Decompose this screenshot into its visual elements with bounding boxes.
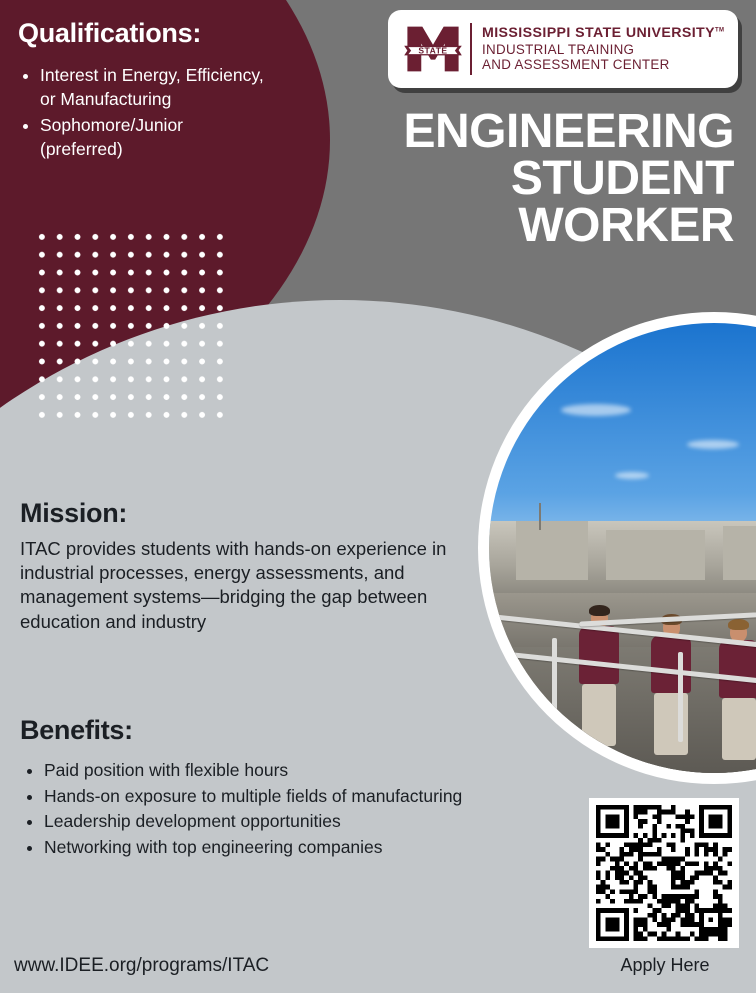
- svg-text:STATE: STATE: [418, 45, 447, 55]
- list-item: Paid position with flexible hours: [44, 758, 600, 784]
- list-item: Hands-on exposure to multiple fields of …: [44, 784, 600, 810]
- qr-code-caption: Apply Here: [575, 955, 755, 976]
- benefits-heading: Benefits:: [20, 715, 600, 746]
- qualifications-section: Qualifications: Interest in Energy, Effi…: [18, 18, 268, 164]
- list-item: Networking with top engineering companie…: [44, 835, 600, 861]
- msu-m-state-logo-icon: STATE: [400, 21, 466, 77]
- benefits-section: Benefits: Paid position with flexible ho…: [20, 715, 600, 860]
- list-item: Interest in Energy, Efficiency, or Manuf…: [40, 63, 268, 111]
- logo-center-line-2: AND ASSESSMENT CENTER: [482, 57, 724, 72]
- logo-divider: [470, 23, 472, 75]
- dot-grid-pattern: [33, 228, 229, 424]
- mission-body-text: ITAC provides students with hands-on exp…: [20, 537, 450, 634]
- headline-line-1: ENGINEERING: [304, 108, 734, 155]
- mission-section: Mission: ITAC provides students with han…: [20, 498, 450, 634]
- logo-university-name: MISSISSIPPI STATE UNIVERSITYTM: [482, 26, 724, 42]
- qr-code-card[interactable]: [589, 798, 739, 948]
- poster-canvas: STATE MISSISSIPPI STATE UNIVERSITYTM IND…: [0, 0, 756, 993]
- headline-line-3: WORKER: [304, 202, 734, 249]
- qualifications-list: Interest in Energy, Efficiency, or Manuf…: [18, 63, 268, 162]
- footer-url[interactable]: www.IDEE.org/programs/ITAC: [14, 955, 269, 977]
- logo-center-line-1: INDUSTRIAL TRAINING: [482, 42, 724, 57]
- benefits-list: Paid position with flexible hours Hands-…: [20, 758, 600, 860]
- headline-title: ENGINEERING STUDENT WORKER: [304, 108, 734, 249]
- logo-text-block: MISSISSIPPI STATE UNIVERSITYTM INDUSTRIA…: [482, 26, 724, 72]
- qualifications-heading: Qualifications:: [18, 18, 268, 49]
- headline-line-2: STUDENT: [304, 155, 734, 202]
- list-item: Leadership development opportunities: [44, 809, 600, 835]
- msu-itac-logo-card: STATE MISSISSIPPI STATE UNIVERSITYTM IND…: [388, 10, 738, 88]
- logo-trademark: TM: [715, 27, 724, 33]
- list-item: Sophomore/Junior (preferred): [40, 113, 268, 161]
- qr-code-icon[interactable]: [596, 805, 732, 941]
- mission-heading: Mission:: [20, 498, 450, 529]
